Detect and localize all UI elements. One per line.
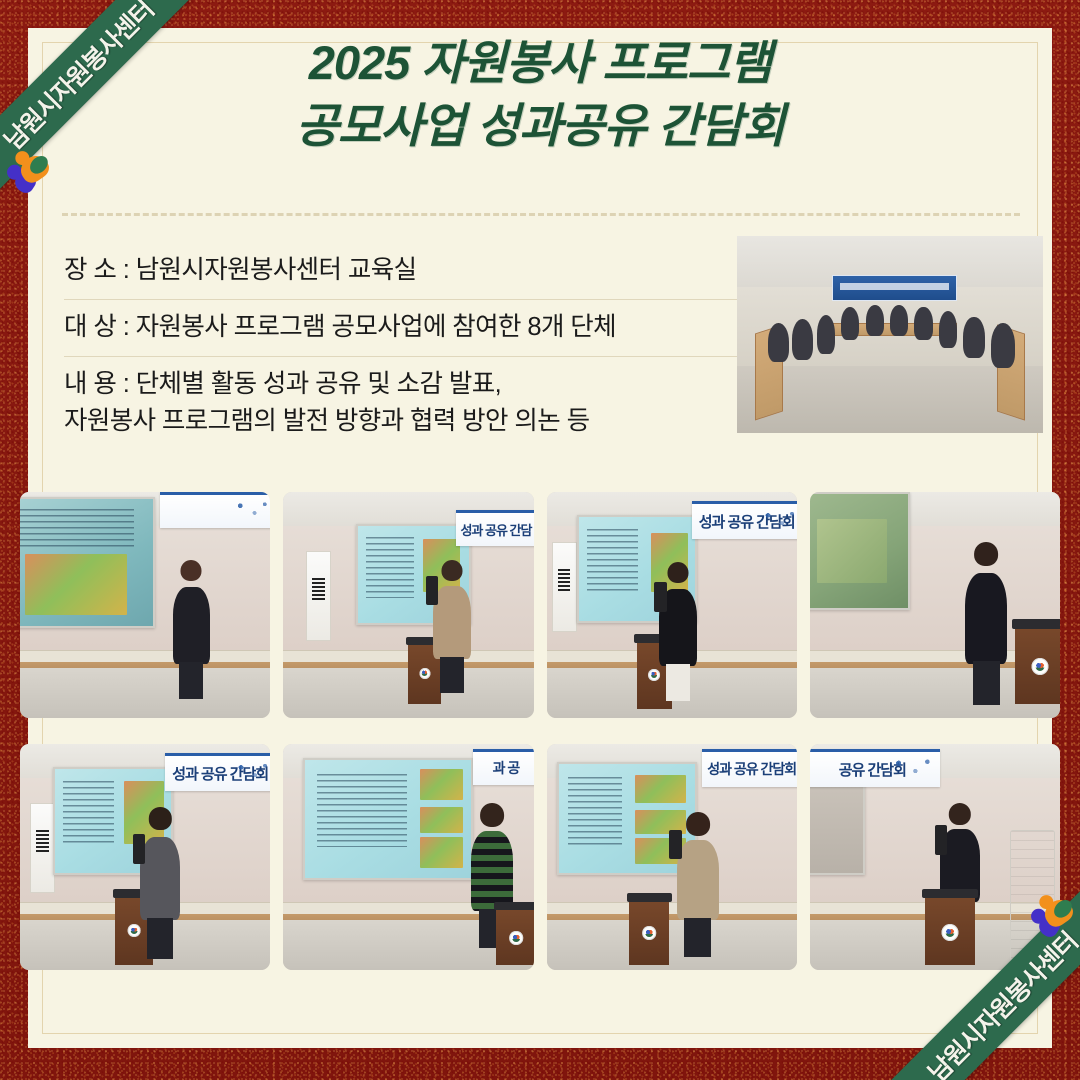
slide-text-lines xyxy=(63,781,114,846)
info-row-location: 장 소 : 남원시자원봉사센터 교육실 xyxy=(64,243,754,299)
speaker-figure xyxy=(659,562,697,666)
body xyxy=(965,573,1008,663)
gallery-photo-6[interactable]: 과 공 xyxy=(283,744,533,970)
banner-diamond-pattern xyxy=(889,754,938,785)
projection-screen xyxy=(303,758,473,880)
projection-screen xyxy=(20,497,155,628)
slide-text-lines xyxy=(568,777,622,845)
attendee xyxy=(866,305,884,337)
microphone-icon xyxy=(935,825,948,854)
banner-text: 과 공 xyxy=(493,758,520,778)
body xyxy=(173,587,211,664)
speaker-figure xyxy=(965,542,1008,664)
center-emblem-icon xyxy=(642,926,656,940)
body xyxy=(471,831,514,911)
legs xyxy=(684,918,711,957)
banner-diamond-pattern xyxy=(233,758,270,789)
body xyxy=(433,586,471,660)
page-title: 2025 자원봉사 프로그램 공모사업 성과공유 간담회 xyxy=(0,32,1080,158)
speaker-figure xyxy=(471,803,514,911)
event-banner: 성과 공유 간담회 xyxy=(165,753,270,791)
title-divider xyxy=(62,213,1020,216)
attendee xyxy=(792,319,813,360)
podium xyxy=(496,902,534,965)
event-banner-icon xyxy=(832,275,957,301)
legs xyxy=(179,662,203,699)
attendee xyxy=(914,307,932,340)
gallery-photo-7[interactable]: 성과 공유 간담회 xyxy=(547,744,797,970)
center-emblem-icon xyxy=(127,924,140,937)
floor xyxy=(20,668,270,718)
event-banner: 공유 간담회 xyxy=(810,749,940,787)
speaker-figure xyxy=(173,560,211,664)
center-emblem-icon xyxy=(1031,658,1048,675)
banner-diamond-pattern xyxy=(232,497,271,526)
gallery-photo-3[interactable]: 성과 공유 간담회 xyxy=(547,492,797,718)
info-text-content: 내 용 : 단체별 활동 성과 공유 및 소감 발표, 자원봉사 프로그램의 발… xyxy=(64,366,754,440)
info-text-audience: 대 상 : 자원봉사 프로그램 공모사업에 참여한 8개 단체 xyxy=(64,309,754,346)
head xyxy=(149,807,171,829)
korean-flag xyxy=(552,542,577,632)
head xyxy=(181,560,202,581)
attendee xyxy=(963,317,984,358)
gallery-photo-5[interactable]: 성과 공유 간담회 xyxy=(20,744,270,970)
event-banner: 성과 공유 간담회 xyxy=(692,501,797,539)
speaker-figure xyxy=(433,560,471,659)
center-emblem-icon xyxy=(941,924,958,941)
poster-root: 2025 자원봉사 프로그램 공모사업 성과공유 간담회 장 소 : 남원시자원… xyxy=(0,0,1080,1080)
info-block: 장 소 : 남원시자원봉사센터 교육실 대 상 : 자원봉사 프로그램 공모사업… xyxy=(64,243,754,450)
legs xyxy=(440,657,464,693)
gallery-photo-8[interactable]: 공유 간담회 xyxy=(810,744,1060,970)
banner-text: 성과 공유 간담회 xyxy=(707,759,796,779)
podium xyxy=(629,893,669,965)
podium xyxy=(1015,619,1060,705)
projection-screen xyxy=(810,492,910,610)
korean-flag xyxy=(306,551,331,641)
slide-text-lines xyxy=(366,537,415,598)
attendee xyxy=(991,323,1015,368)
speaker-figure xyxy=(677,812,720,920)
gallery-photo-4[interactable] xyxy=(810,492,1060,718)
attendee xyxy=(817,315,835,354)
slide-thumbnail xyxy=(25,554,127,615)
head xyxy=(686,812,710,836)
event-banner: 성과 공유 간담회 xyxy=(702,749,797,787)
slide-thumbnail xyxy=(420,807,463,833)
event-banner: 성과 공유 간담 xyxy=(456,510,534,546)
podium xyxy=(925,889,975,966)
floor xyxy=(547,920,797,970)
head xyxy=(667,562,688,583)
hero-scene xyxy=(737,236,1043,433)
gallery-photo-1[interactable] xyxy=(20,492,270,718)
event-banner xyxy=(160,492,270,528)
photo-gallery: 성과 공유 간담 성과 공유 간담 xyxy=(20,492,1060,970)
attendee xyxy=(890,305,908,337)
body xyxy=(677,840,720,920)
slide-thumbnail xyxy=(420,837,463,868)
center-emblem-icon xyxy=(648,669,660,681)
head xyxy=(442,560,463,581)
microphone-icon xyxy=(669,830,682,859)
info-row-audience: 대 상 : 자원봉사 프로그램 공모사업에 참여한 8개 단체 xyxy=(64,299,754,356)
microphone-icon xyxy=(133,834,146,863)
korean-flag xyxy=(30,803,55,893)
slide-thumbnail xyxy=(635,775,687,803)
banner-text: 성과 공유 간담 xyxy=(460,520,531,539)
title-line-2: 공모사업 성과공유 간담회 xyxy=(0,95,1080,158)
legs xyxy=(973,661,1000,705)
title-line-1: 2025 자원봉사 프로그램 xyxy=(0,32,1080,95)
speaker-figure xyxy=(140,807,180,920)
body xyxy=(140,837,180,921)
hero-group-photo xyxy=(737,236,1043,433)
microphone-icon xyxy=(654,582,667,611)
attendee xyxy=(939,311,957,348)
info-text-location: 장 소 : 남원시자원봉사센터 교육실 xyxy=(64,252,754,289)
slide-text-lines xyxy=(587,529,638,594)
microphone-icon xyxy=(426,576,439,605)
attendee xyxy=(841,307,859,340)
center-emblem-icon xyxy=(509,931,523,945)
attendee xyxy=(768,323,789,362)
banner-diamond-pattern xyxy=(760,506,797,537)
head xyxy=(974,542,998,566)
head xyxy=(949,803,971,825)
head xyxy=(480,803,504,827)
info-row-content: 내 용 : 단체별 활동 성과 공유 및 소감 발표, 자원봉사 프로그램의 발… xyxy=(64,356,754,450)
slide-thumbnail xyxy=(817,519,887,583)
slide-text-lines xyxy=(20,509,134,547)
slide-thumbnail xyxy=(420,769,463,800)
legs xyxy=(666,664,690,701)
center-emblem-icon xyxy=(419,668,430,679)
gallery-photo-2[interactable]: 성과 공유 간담 xyxy=(283,492,533,718)
slide-text-lines xyxy=(317,774,407,847)
legs xyxy=(147,918,173,959)
event-banner: 과 공 xyxy=(473,749,533,785)
